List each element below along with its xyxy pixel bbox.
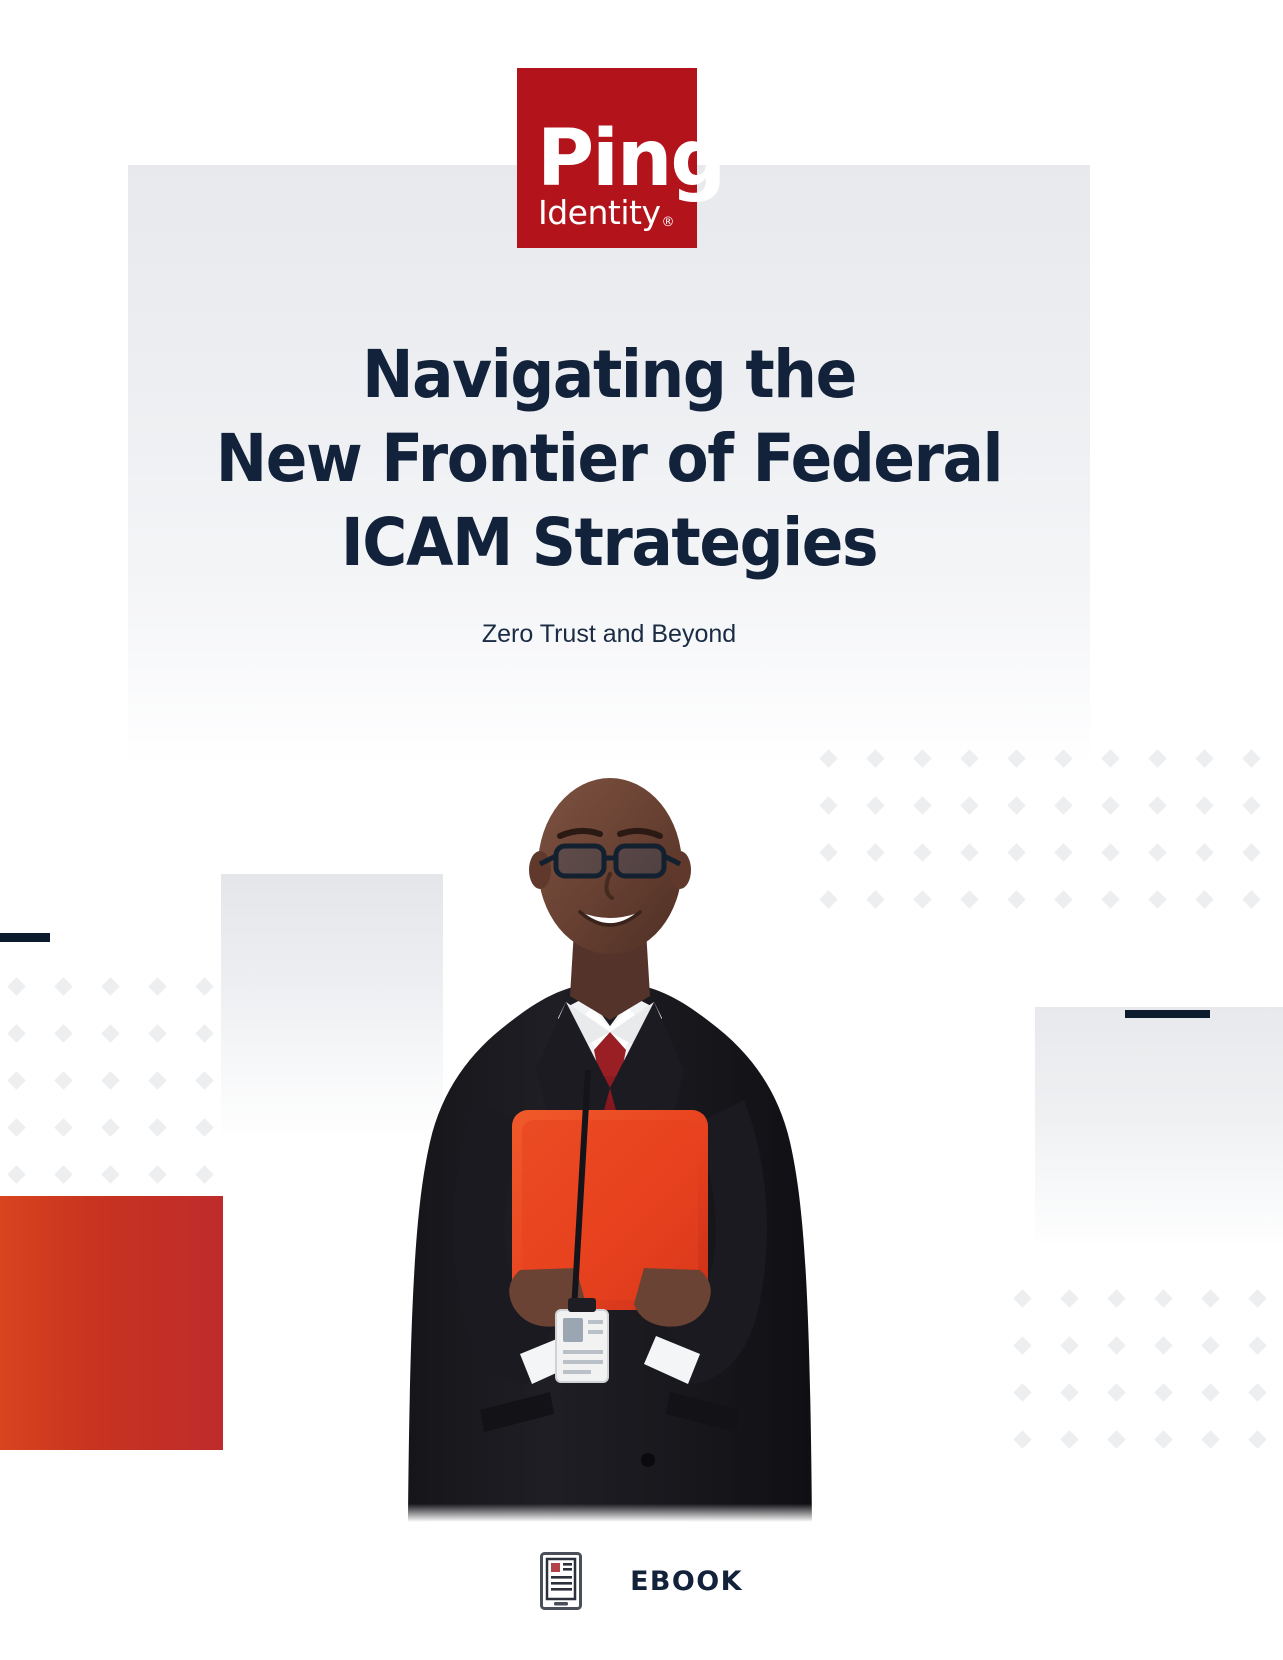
hero-photo [360,770,860,1522]
decor-dot-grid-top-right [822,752,1252,912]
page-title-line-3: ICAM Strategies [162,501,1057,585]
registered-mark-icon: ® [661,215,674,230]
ebook-cover-page: Ping Identity® Navigating the New Fronti… [0,0,1283,1660]
decor-right-gray-rectangle [1035,1007,1283,1243]
page-title-line-2: New Frontier of Federal [162,417,1057,501]
decor-right-navy-bar [1125,1010,1210,1018]
decor-red-gradient-square [0,1196,223,1450]
decor-left-navy-bar [0,933,50,942]
footer-badge: EBOOK [0,1552,1283,1610]
logo-wordmark-identity: Identity® [538,196,673,237]
logo-wordmark-ping: Ping [537,120,724,198]
ebook-label: EBOOK [630,1566,743,1597]
ebook-document-icon [540,1552,582,1610]
decor-dot-grid-left [10,980,240,1210]
page-title-line-1: Navigating the [162,333,1057,417]
decor-dot-grid-bottom-right [1016,1292,1283,1467]
page-title: Navigating the New Frontier of Federal I… [162,333,1057,585]
ping-identity-logo: Ping Identity® [517,68,697,248]
page-subtitle: Zero Trust and Beyond [128,618,1090,650]
